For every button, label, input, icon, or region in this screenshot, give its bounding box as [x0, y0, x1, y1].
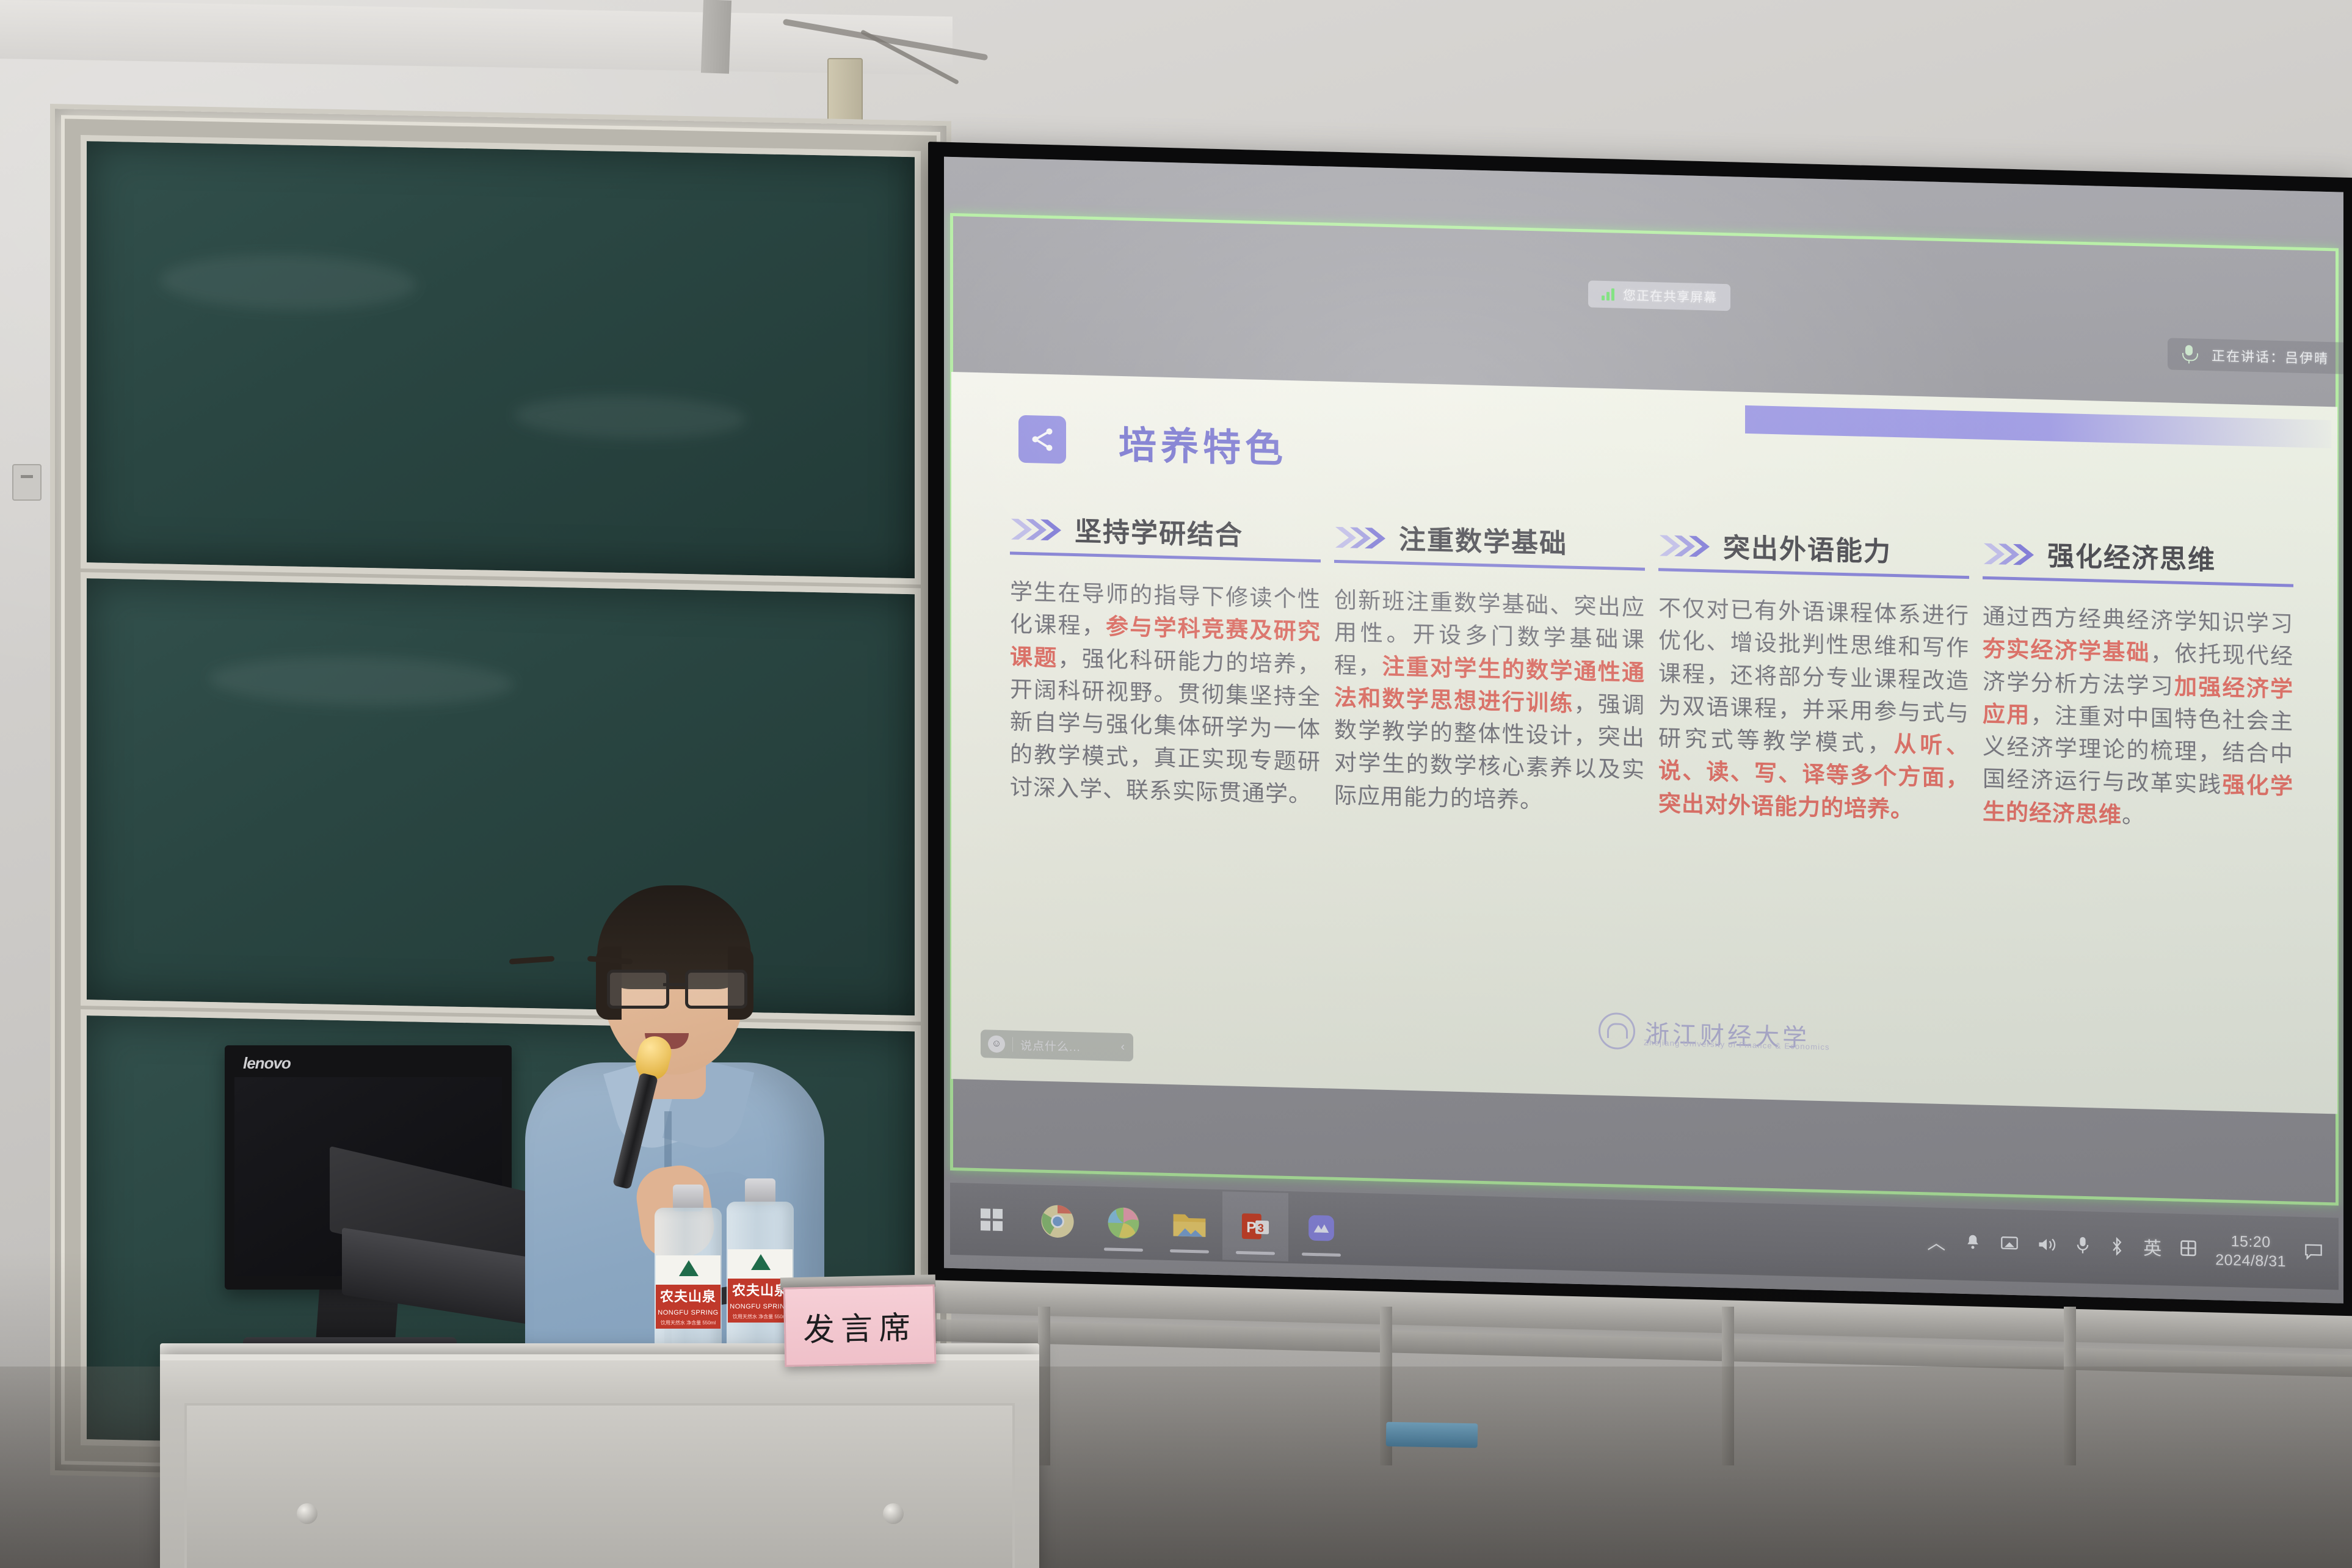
share-nodes-icon [1018, 415, 1066, 464]
chevrons-right-icon [1010, 515, 1066, 548]
screen-share-status-label: 您正在共享屏幕 [1623, 286, 1717, 307]
slide-column: 坚持学研结合 学生在导师的指导下修读个性化课程，参与学科竞赛及研究课题，强化科研… [1010, 507, 1334, 833]
screen-share-status-pill[interactable]: 您正在共享屏幕 [1588, 280, 1730, 311]
university-seal-icon [1599, 1012, 1635, 1050]
classroom-photo: 您正在共享屏幕 正在讲话：吕伊晴 [0, 0, 2352, 1568]
chevrons-right-icon [1983, 540, 2039, 573]
active-speaker-label: 正在讲话：吕伊晴 [2212, 345, 2329, 368]
column-body: 不仅对已有外语课程体系进行优化、增设批判性思维和写作课程，还将部分专业课程改造为… [1658, 592, 1969, 827]
slide-title: 培养特色 [1119, 414, 1287, 473]
chat-avatar: ☺ [988, 1035, 1005, 1053]
column-heading-row: 强化经济思维 [1983, 532, 2293, 587]
chrome-taskbar-icon[interactable] [1025, 1186, 1091, 1257]
column-body: 创新班注重数学基础、突出应用性。开设多门数学基础课程，注重对学生的数学通性通法和… [1334, 584, 1645, 819]
podium-sign: 发言席 [783, 1284, 937, 1367]
university-logo: 浙江财经大学 Zhejiang University of Finance & … [1599, 1012, 1810, 1054]
bottle-label: 农夫山泉 NONGFU SPRING 饮用天然水 净含量 550ml [656, 1255, 720, 1329]
column-heading-row: 突出外语能力 [1658, 524, 1969, 579]
column-body: 通过西方经典经济学知识学习夯实经济学基础，依托现代经济学分析方法学习加强经济学应… [1983, 600, 2293, 836]
chevrons-right-icon [1334, 523, 1390, 556]
slide-column: 强化经济思维 通过西方经典经济学知识学习夯实经济学基础，依托现代经济学分析方法学… [1983, 532, 2307, 858]
edge-taskbar-icon[interactable] [1091, 1188, 1156, 1258]
chat-collapse-icon[interactable]: ‹ [1121, 1040, 1125, 1054]
column-heading: 突出外语能力 [1723, 526, 1892, 569]
screen-surface[interactable]: 您正在共享屏幕 正在讲话：吕伊晴 [944, 157, 2343, 1304]
slide-column: 突出外语能力 不仅对已有外语课程体系进行优化、增设批判性思维和写作课程，还将部分… [1658, 524, 1983, 850]
podium-sign-label: 发言席 [802, 1302, 917, 1350]
bottle-brand-en: NONGFU SPRING [728, 1303, 793, 1310]
svg-text:3: 3 [1258, 1221, 1264, 1234]
bottle-brand-cn: 农夫山泉 [656, 1286, 720, 1305]
column-heading: 坚持学研结合 [1075, 509, 1243, 553]
start-button[interactable] [959, 1185, 1025, 1255]
bottle-spec: 饮用天然水 净含量 550ml [728, 1313, 793, 1320]
microphone-icon [2182, 345, 2196, 364]
column-heading: 强化经济思维 [2047, 534, 2216, 577]
wall-socket [12, 464, 42, 501]
highlighted-text: 夯实经济学基础 [1983, 636, 2151, 666]
clock-time: 15:20 [2231, 1233, 2271, 1251]
wall-duct [701, 0, 731, 74]
column-heading-row: 注重数学基础 [1334, 516, 1645, 571]
active-speaker-pill[interactable]: 正在讲话：吕伊晴 [2168, 338, 2343, 374]
bottle-spec: 饮用天然水 净含量 550ml [656, 1319, 720, 1326]
chalkboard-pane-top [81, 135, 921, 584]
chat-input-placeholder[interactable]: 说点什么... [1020, 1036, 1121, 1055]
podium-knob [883, 1503, 904, 1524]
body-text: 通过西方经典经济学知识学习 [1983, 604, 2293, 637]
eyeglasses [606, 970, 745, 1005]
podium-front-panel [184, 1403, 1015, 1568]
bottle-brand-en: NONGFU SPRING [656, 1309, 720, 1316]
podium-knob [297, 1503, 318, 1524]
body-text: 。 [2122, 802, 2145, 828]
lenovo-logo: lenovo [243, 1054, 291, 1073]
powerpoint-slide[interactable]: 培养特色 [951, 372, 2337, 1114]
projection-screen: 您正在共享屏幕 正在讲话：吕伊晴 [928, 142, 2352, 1319]
signal-bars-icon [1602, 288, 1614, 301]
column-heading: 注重数学基础 [1399, 518, 1567, 561]
eyebrow [509, 956, 554, 964]
file-explorer-taskbar-icon[interactable] [1156, 1189, 1222, 1260]
slide-columns: 坚持学研结合 学生在导师的指导下修读个性化课程，参与学科竞赛及研究课题，强化科研… [1010, 507, 2307, 858]
mountain-peak-icon [751, 1254, 771, 1270]
slide-column: 注重数学基础 创新班注重数学基础、突出应用性。开设多门数学基础课程，注重对学生的… [1334, 516, 1658, 842]
meeting-chat-bar[interactable]: ☺ 说点什么... ‹ [981, 1029, 1133, 1061]
svg-text:P: P [1246, 1219, 1256, 1236]
column-heading-row: 坚持学研结合 [1010, 507, 1321, 562]
mountain-peak-icon [679, 1260, 699, 1276]
podium [160, 1354, 1039, 1568]
chevrons-right-icon [1658, 531, 1715, 564]
column-body: 学生在导师的指导下修读个性化课程，参与学科竞赛及研究课题，强化科研能力的培养，开… [1010, 575, 1321, 811]
